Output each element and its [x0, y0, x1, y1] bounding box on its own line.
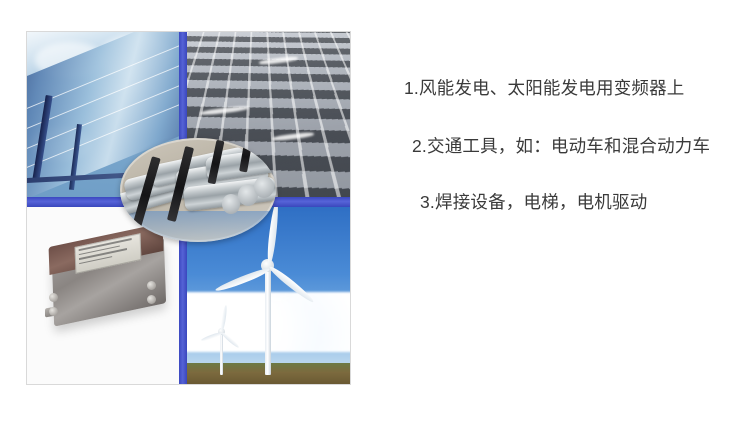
- bullet-text-block: 1.风能发电、太阳能发电用变频器上 2.交通工具，如：电动车和混合动力车 3.焊…: [380, 78, 720, 214]
- inset-capacitor-cells: [120, 138, 276, 242]
- bullet-line-1: 1.风能发电、太阳能发电用变频器上: [404, 78, 720, 100]
- image-collage: [27, 32, 350, 384]
- turbine-mast-main: [265, 263, 271, 375]
- turbine-blade-c: [214, 266, 270, 294]
- turbine-mast-far: [220, 331, 223, 375]
- bullet-line-2: 2.交通工具，如：电动车和混合动力车: [412, 136, 720, 158]
- bullet-line-3: 3.焊接设备，电梯，电机驱动: [420, 192, 720, 214]
- slide-canvas: 1.风能发电、太阳能发电用变频器上 2.交通工具，如：电动车和混合动力车 3.焊…: [0, 0, 750, 422]
